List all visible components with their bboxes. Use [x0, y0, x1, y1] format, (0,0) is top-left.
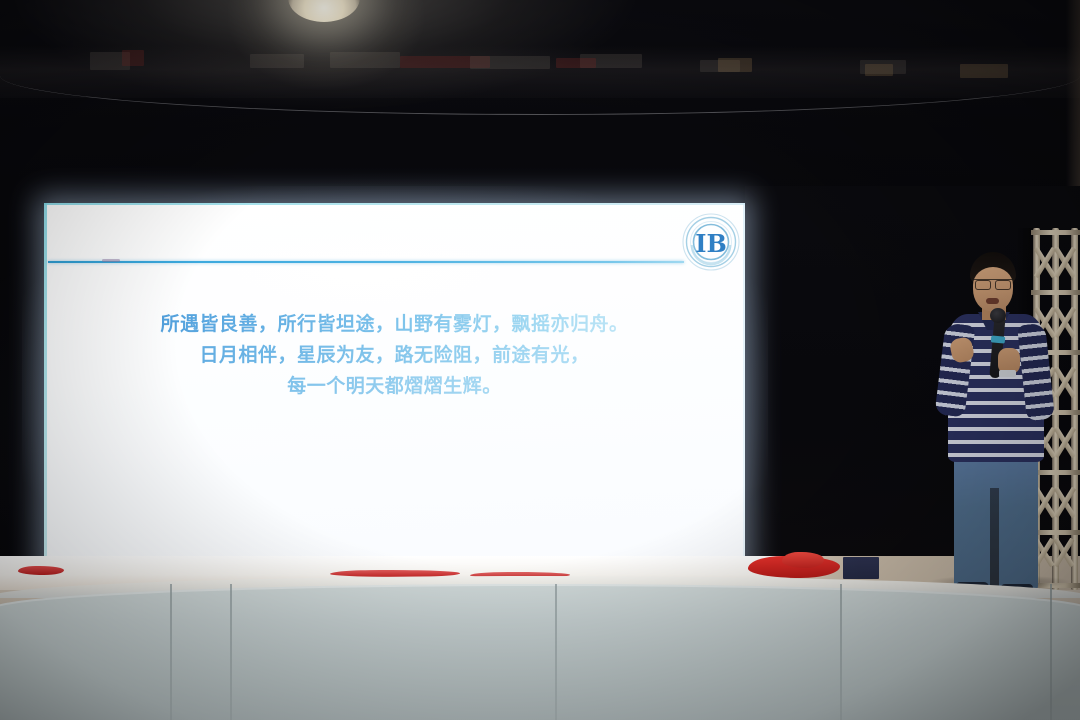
slide-poem: 所遇皆良善，所行皆坦途，山野有雾灯，飘摇亦归舟。 日月相伴，星辰为友，路无险阻，…	[44, 311, 745, 404]
rigging-fixture	[470, 56, 550, 69]
apron-panel-seam	[840, 584, 842, 720]
apron-panel-seam	[230, 584, 232, 720]
rigging-fixture	[718, 58, 752, 72]
truss-rail	[1071, 228, 1078, 590]
red-cloth	[18, 566, 64, 575]
institution-logo: IB	[680, 211, 742, 273]
projection-screen: IB 所遇皆良善，所行皆坦途，山野有雾灯，飘摇亦归舟。 日月相伴，星辰为友，路无…	[44, 203, 745, 571]
rigging-fixture	[330, 52, 400, 68]
poem-line-3: 每一个明天都熠熠生辉。	[44, 373, 745, 399]
stage-apron	[0, 584, 1080, 720]
microphone-band	[991, 335, 1006, 343]
rigging-fixture	[250, 54, 304, 68]
rigging-fixture	[122, 50, 144, 66]
logo-monogram-text: IB	[695, 229, 727, 258]
slide-rule-marker	[102, 259, 120, 262]
rigging-fixture	[556, 58, 596, 68]
poem-line-2: 日月相伴，星辰为友，路无险阻，前途有光，	[44, 342, 745, 368]
dark-box-prop	[843, 557, 879, 579]
slide-header-rule	[48, 261, 684, 263]
wristwatch-icon	[999, 370, 1016, 377]
presenter-leg-gap	[990, 488, 999, 590]
apron-panel-seam	[170, 584, 172, 720]
presenter-mouth	[986, 298, 999, 304]
microphone-head	[990, 308, 1006, 323]
poem-line-1: 所遇皆良善，所行皆坦途，山野有雾灯，飘摇亦归舟。	[44, 311, 745, 337]
apron-panel-seam	[555, 584, 557, 720]
screen-top-edge	[44, 203, 745, 205]
presenter	[938, 252, 1054, 592]
red-cloth	[782, 552, 824, 568]
apron-panel-seam	[1050, 584, 1052, 720]
glasses-icon	[974, 279, 1012, 289]
stage-photo-scene: IB 所遇皆良善，所行皆坦途，山野有雾灯，飘摇亦归舟。 日月相伴，星辰为友，路无…	[0, 0, 1080, 720]
truss-ring	[1031, 230, 1080, 235]
